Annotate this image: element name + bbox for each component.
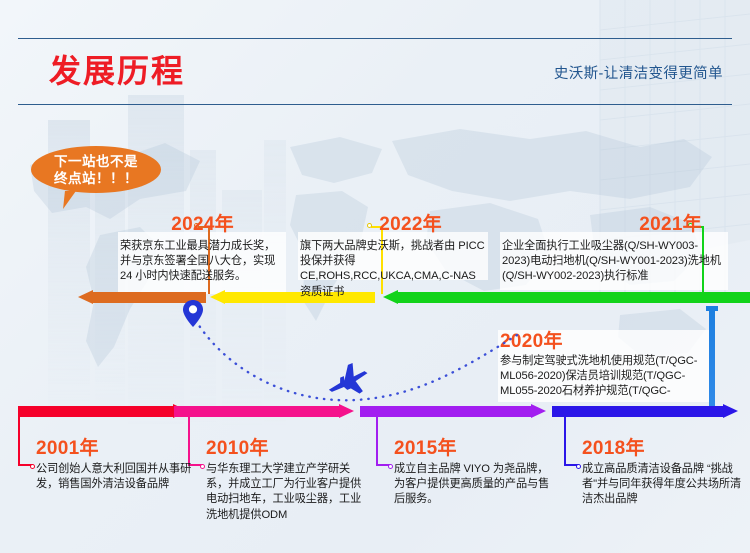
event-2022-year: 2022年: [300, 213, 486, 236]
event-2010: 2010年 与华东理工大学建立产学研关系，并成立工厂为行业客户提供电动扫地车，工…: [206, 437, 372, 523]
callout-tail: [63, 191, 81, 209]
header-slogan: 史沃斯-让清洁变得更简单: [554, 62, 723, 83]
callout-line-1: 下一站也不是: [54, 153, 138, 170]
connector-2015: [376, 408, 392, 470]
event-2018: 2018年 成立高品质清洁设备品牌 “挑战者"并与同年获得年度公共场所清洁杰出品…: [582, 437, 742, 508]
event-2010-year: 2010年: [206, 437, 372, 460]
page-title: 发展历程: [49, 51, 185, 91]
airplane-icon: [325, 362, 371, 400]
event-2018-desc: 成立高品质清洁设备品牌 “挑战者"并与同年获得年度公共场所清洁杰出品牌: [582, 462, 742, 508]
event-2021-year: 2021年: [502, 213, 726, 236]
connector-2018: [564, 408, 580, 470]
event-2015-desc: 成立自主品牌 VIYO 为尧品牌，为客户提供更高质量的产品与售后服务。: [394, 462, 558, 508]
timeline-arrow-2001: [18, 406, 188, 417]
location-pin-icon: [182, 299, 204, 329]
event-2024: 2024年 荣获京东工业最具潜力成长奖，并与京东签署全国八大仓，实现 24 小时…: [120, 213, 286, 285]
dotted-route-path: [170, 300, 590, 410]
event-2018-year: 2018年: [582, 437, 742, 460]
event-2021-desc: 企业全面执行工业吸尘器(Q/SH-WY003-2023)电动扫地机(Q/SH-W…: [502, 239, 726, 285]
event-2024-desc: 荣获京东工业最具潜力成长奖，并与京东签署全国八大仓，实现 24 小时内快速配送服…: [120, 239, 286, 285]
event-2015-year: 2015年: [394, 437, 558, 460]
connector-2001: [18, 408, 34, 470]
event-2015: 2015年 成立自主品牌 VIYO 为尧品牌，为客户提供更高质量的产品与售后服务…: [394, 437, 558, 508]
event-2001-year: 2001年: [36, 437, 196, 460]
callout-bubble: 下一站也不是 终点站！！！: [31, 146, 161, 193]
header-rule-bottom: [18, 104, 732, 105]
event-2021: 2021年 企业全面执行工业吸尘器(Q/SH-WY003-2023)电动扫地机(…: [502, 213, 726, 285]
event-2001-desc: 公司创始人意大利回国并从事研发，销售国外清洁设备品牌: [36, 462, 196, 492]
event-2024-year: 2024年: [120, 213, 286, 236]
event-2001: 2001年 公司创始人意大利回国并从事研发，销售国外清洁设备品牌: [36, 437, 196, 492]
header-rule-top: [18, 38, 732, 39]
event-2010-desc: 与华东理工大学建立产学研关系，并成立工厂为行业客户提供电动扫地车，工业吸尘器，工…: [206, 462, 372, 523]
event-2022: 2022年 旗下两大品牌史沃斯，挑战者由 PICC投保并获得CE,ROHS,RC…: [300, 213, 486, 300]
infographic-page: 发展历程 史沃斯-让清洁变得更简单 下一站也不是 终点站！！！: [0, 0, 750, 553]
callout-line-2: 终点站！！！: [54, 170, 138, 187]
event-2022-desc: 旗下两大品牌史沃斯，挑战者由 PICC投保并获得CE,ROHS,RCC,UKCA…: [300, 239, 486, 300]
